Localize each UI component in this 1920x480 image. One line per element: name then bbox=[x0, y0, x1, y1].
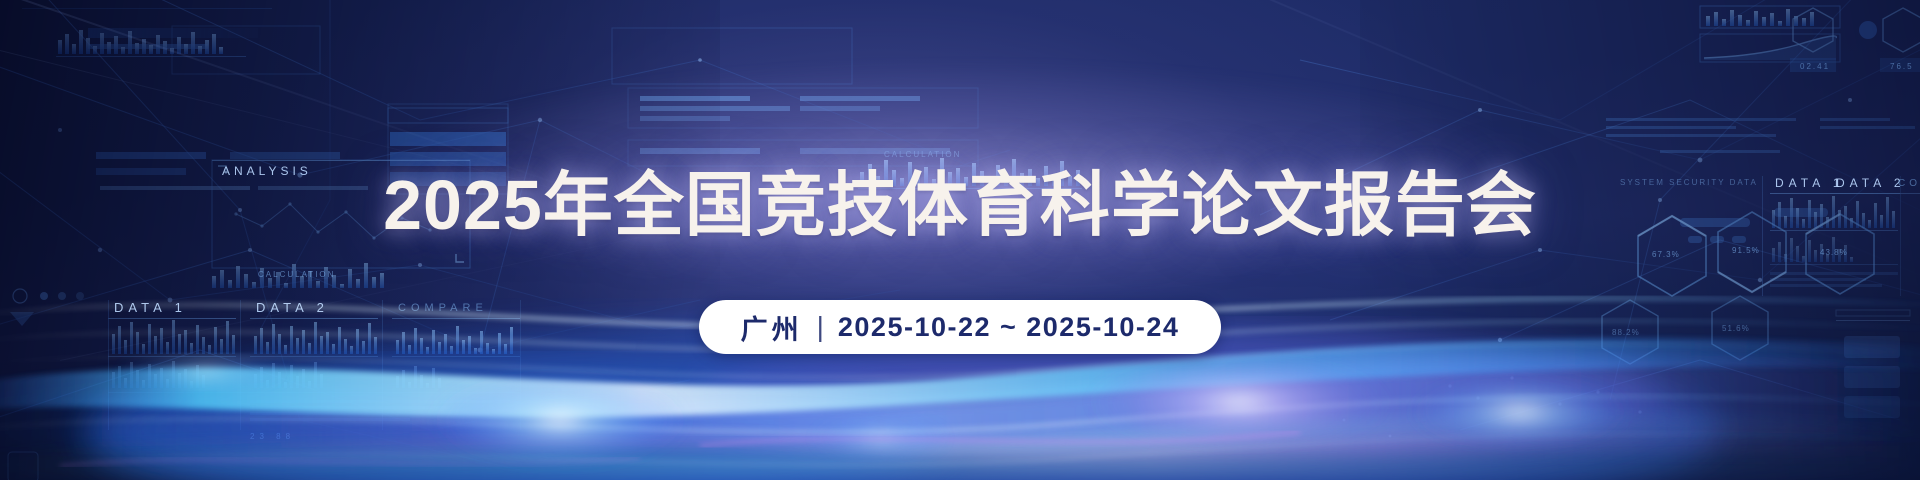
conference-banner: ANALYSIS CALCULATION CALCULATION DATA 1 … bbox=[0, 0, 1920, 480]
event-city: 广州 bbox=[741, 308, 803, 347]
subtitle-block: 广州 | 2025-10-22 ~ 2025-10-24 bbox=[0, 300, 1920, 354]
hud-panel-top-left bbox=[22, 8, 272, 57]
event-dates: 2025-10-22 ~ 2025-10-24 bbox=[838, 312, 1180, 343]
title-block: 2025年全国竞技体育科学论文报告会 bbox=[0, 108, 1920, 302]
pill-separator: | bbox=[815, 311, 826, 343]
page-title: 2025年全国竞技体育科学论文报告会 bbox=[383, 155, 1537, 255]
hud-label-ticker-left: 23 88 bbox=[250, 432, 295, 441]
hud-panel-top-right bbox=[1700, 6, 1920, 72]
hud-top-gauge-1: 02.41 bbox=[1800, 62, 1830, 71]
hud-tick-dots bbox=[1343, 376, 1642, 437]
event-info-pill: 广州 | 2025-10-22 ~ 2025-10-24 bbox=[699, 300, 1222, 354]
hud-top-gauge-2: 76.5 bbox=[1890, 62, 1914, 71]
